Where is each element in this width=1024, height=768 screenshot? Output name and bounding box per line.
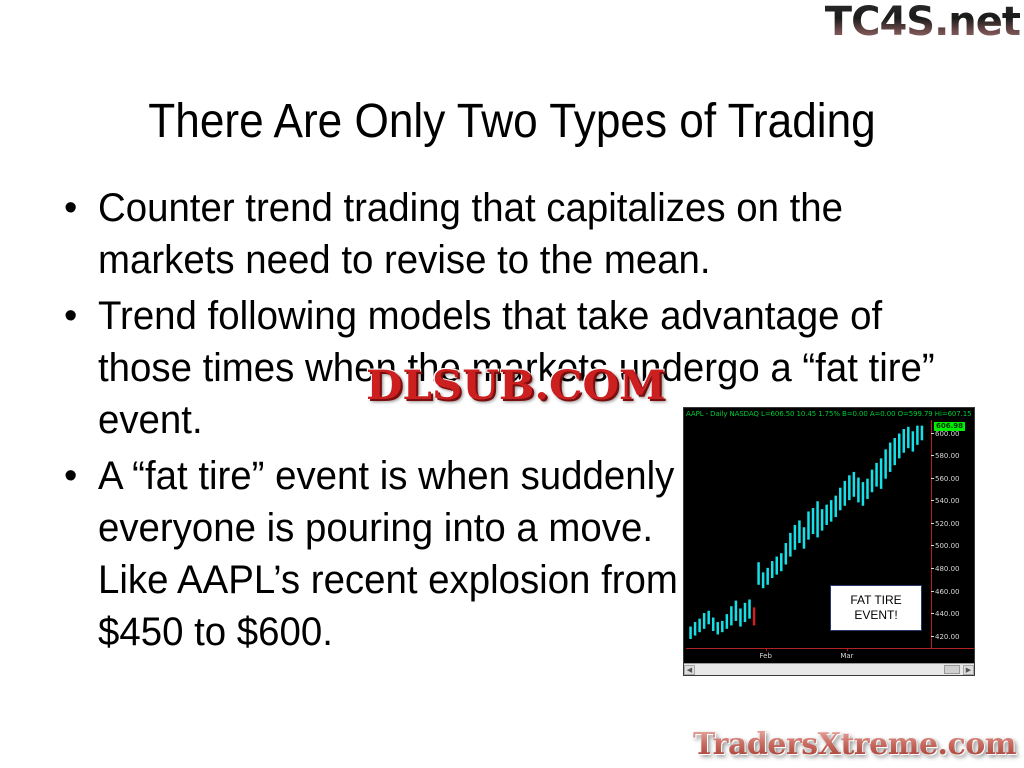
- price-tick-label: 420.00: [935, 633, 960, 641]
- bullet-marker-icon: •: [52, 182, 98, 234]
- bullet-marker-icon: •: [52, 450, 98, 502]
- chart-quote-header: AAPL - Daily NASDAQ L=606.50 10.45 1.75%…: [686, 409, 974, 420]
- price-tick-label: 440.00: [935, 610, 960, 618]
- scroll-right-arrow-icon[interactable]: ▶: [963, 665, 974, 675]
- page-title: There Are Only Two Types of Trading: [41, 96, 983, 149]
- price-tick-label: 600.00: [935, 430, 960, 438]
- scroll-left-arrow-icon[interactable]: ◀: [684, 665, 695, 675]
- price-tick-label: 560.00: [935, 475, 960, 483]
- callout-line-2: EVENT!: [854, 608, 897, 623]
- tradersxtreme-logo: TradersXtreme.com: [693, 730, 1016, 760]
- chart-horizontal-scrollbar[interactable]: ◀ ▶: [684, 663, 974, 675]
- callout-line-1: FAT TIRE: [850, 593, 901, 608]
- tc4s-site-logo: TC4S.net: [825, 2, 1020, 42]
- time-tick-label: Mar: [840, 652, 853, 661]
- price-tick-label: 460.00: [935, 588, 960, 596]
- price-tick-label: 580.00: [935, 452, 960, 460]
- price-tick-label: 500.00: [935, 542, 960, 550]
- bullet-text-1: Counter trend trading that capitalizes o…: [98, 182, 951, 286]
- fat-tire-annotation: FAT TIRE EVENT!: [830, 585, 922, 631]
- price-axis: 606.98 600.00580.00560.00540.00520.00500…: [931, 420, 975, 660]
- dlsub-watermark: DLSUB.COM: [366, 362, 666, 409]
- price-tick-label: 540.00: [935, 497, 960, 505]
- list-item: • Counter trend trading that capitalizes…: [52, 182, 987, 286]
- aapl-price-chart[interactable]: AAPL - Daily NASDAQ L=606.50 10.45 1.75%…: [683, 407, 975, 676]
- time-tick-label: Feb: [760, 652, 772, 661]
- price-tick-label: 480.00: [935, 565, 960, 573]
- bullet-marker-icon: •: [52, 290, 98, 342]
- price-tick-label: 520.00: [935, 520, 960, 528]
- scrollbar-thumb[interactable]: [944, 665, 960, 674]
- bullet-text-3: A “fat tire” event is when suddenly ever…: [98, 450, 698, 658]
